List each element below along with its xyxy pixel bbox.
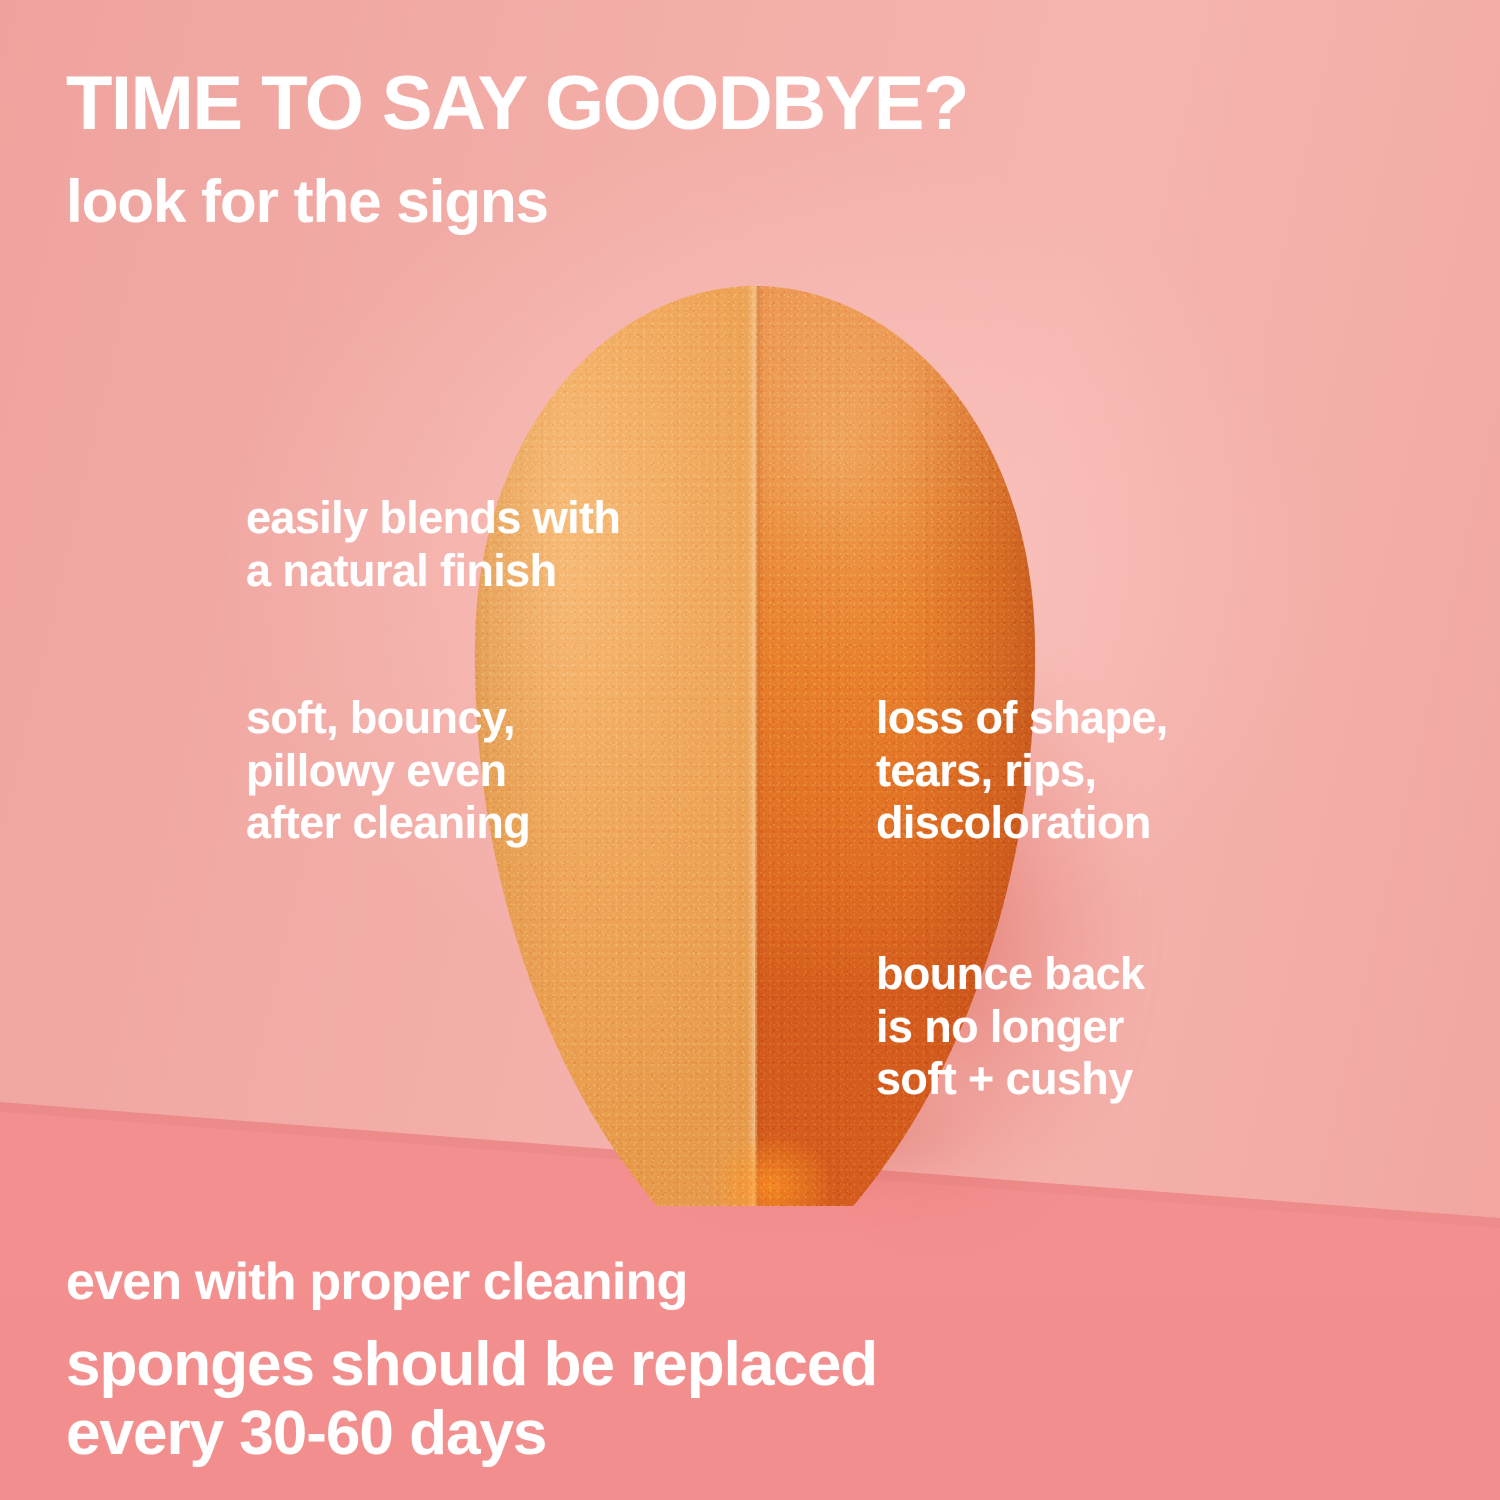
callout-bounce-back: bounce back is no longer soft + cushy [876, 948, 1144, 1106]
callout-loss-of-shape: loss of shape, tears, rips, discoloratio… [876, 692, 1168, 850]
page-subtitle: look for the signs [66, 172, 548, 232]
infographic-canvas: TIME TO SAY GOODBYE? look for the signs … [0, 0, 1500, 1500]
footer-replacement-advice: sponges should be replaced every 30-60 d… [66, 1330, 877, 1469]
callout-soft-bouncy: soft, bouncy, pillowy even after cleanin… [246, 692, 530, 850]
page-title: TIME TO SAY GOODBYE? [66, 66, 968, 142]
callout-easily-blends: easily blends with a natural finish [246, 492, 620, 597]
footer-note: even with proper cleaning [66, 1256, 687, 1308]
